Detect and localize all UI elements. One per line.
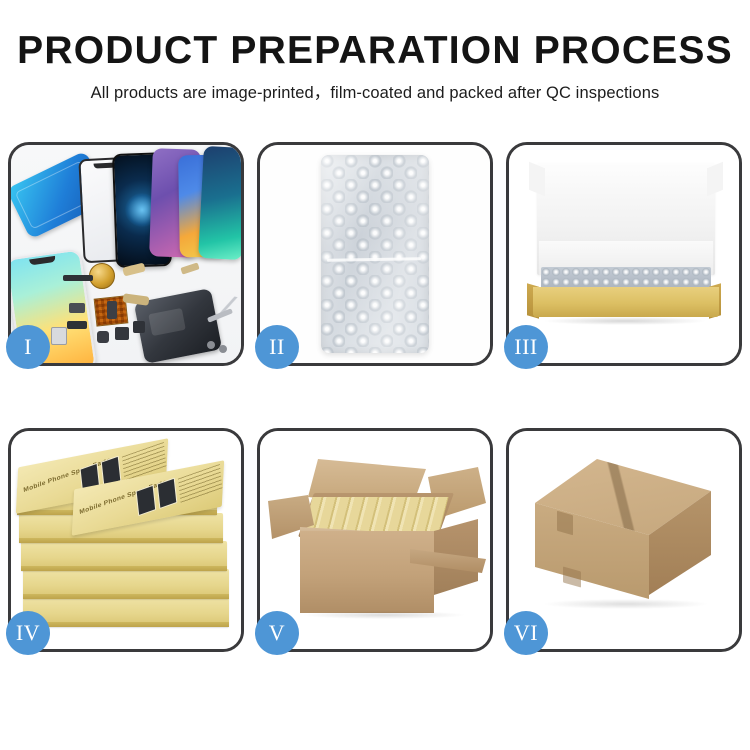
header: PRODUCT PREPARATION PROCESS All products… <box>0 28 750 103</box>
spare-part <box>180 262 199 274</box>
retail-box <box>21 541 227 571</box>
spare-part <box>67 321 87 329</box>
step-panel-4: Mobile Phone Spare Parts Mobile Phone Sp… <box>8 428 244 652</box>
spare-part <box>219 345 227 353</box>
retail-box <box>23 597 229 627</box>
step-badge-6: VI <box>504 611 548 655</box>
step-image-2 <box>260 145 490 363</box>
retail-box <box>23 569 229 599</box>
bubble-wrapped-product <box>321 155 429 353</box>
page-title: PRODUCT PREPARATION PROCESS <box>0 28 750 74</box>
screen-thumbnail <box>157 478 178 509</box>
step-panel-2: II <box>257 142 493 366</box>
spare-part <box>133 321 145 333</box>
spare-part <box>97 331 109 343</box>
box-front-panel <box>533 287 719 317</box>
stacked-retail-boxes: Mobile Phone Spare Parts Mobile Phone Sp… <box>17 447 239 643</box>
step-badge-4: IV <box>6 611 50 655</box>
box-shadow <box>545 317 705 325</box>
bubble-wrap-sheen <box>321 155 429 353</box>
step-image-4: Mobile Phone Spare Parts Mobile Phone Sp… <box>11 431 241 649</box>
step-badge-1: I <box>6 325 50 369</box>
label-spec-lines <box>178 464 223 504</box>
carton-front-face <box>300 531 434 613</box>
step-panel-6: VI <box>506 428 742 652</box>
spare-part <box>115 327 129 340</box>
product-preparation-infographic: PRODUCT PREPARATION PROCESS All products… <box>0 0 750 750</box>
step-badge-3: III <box>504 325 548 369</box>
step-panel-3: III <box>506 142 742 366</box>
step-image-6 <box>509 431 739 649</box>
spare-part <box>51 327 67 345</box>
carton-tape-mark <box>557 511 573 536</box>
sealed-carton-shadow <box>545 599 707 609</box>
step-panel-1: I <box>8 142 244 366</box>
page-subtitle: All products are image-printed，film-coat… <box>0 83 750 103</box>
spare-part <box>107 301 117 319</box>
carton-shadow <box>304 611 464 619</box>
process-step-grid: I II III <box>8 142 742 676</box>
spare-part <box>63 275 93 281</box>
phone-screen-teal <box>198 146 241 260</box>
spare-part <box>207 341 215 349</box>
step-badge-2: II <box>255 325 299 369</box>
spare-part <box>123 293 150 306</box>
step-badge-5: V <box>255 611 299 655</box>
step-image-3 <box>509 145 739 363</box>
screen-thumbnail <box>136 485 157 516</box>
step-image-5 <box>260 431 490 649</box>
spare-part <box>69 303 85 313</box>
step-image-1 <box>11 145 241 363</box>
step-panel-5: V <box>257 428 493 652</box>
